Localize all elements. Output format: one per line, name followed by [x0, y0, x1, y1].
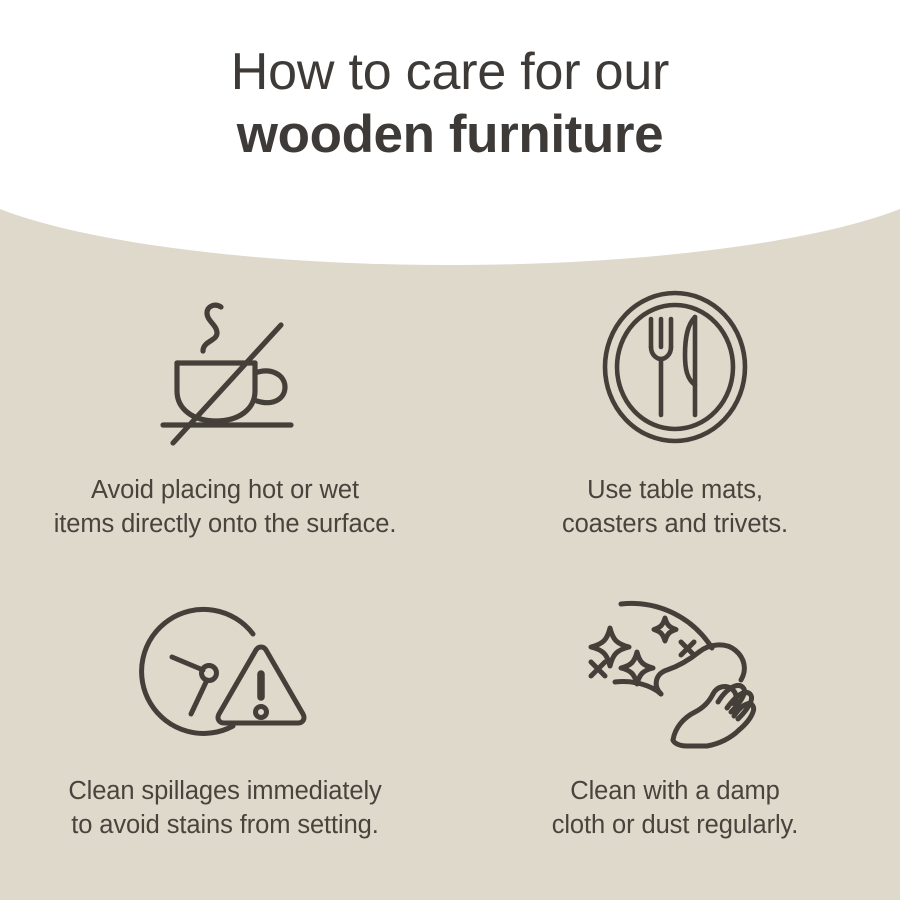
care-tips-grid: Avoid placing hot or wet items directly …	[0, 282, 900, 882]
care-tip-caption: Use table mats, coasters and trivets.	[455, 474, 895, 541]
care-tip-caption: Clean spillages immediately to avoid sta…	[5, 775, 445, 842]
care-tip-caption: Avoid placing hot or wet items directly …	[5, 474, 445, 541]
hand-wiping-cloth-icon	[577, 582, 773, 757]
caption-line-2: coasters and trivets.	[455, 508, 895, 542]
caption-line-1: Clean with a damp	[455, 775, 895, 809]
title-line-light: How to care for our	[0, 44, 900, 100]
caption-line-1: Avoid placing hot or wet	[5, 474, 445, 508]
care-tip-item: Clean spillages immediately to avoid sta…	[0, 582, 450, 882]
title-line-bold: wooden furniture	[0, 106, 900, 163]
plate-cutlery-icon	[599, 282, 751, 452]
care-tip-item: Use table mats, coasters and trivets.	[450, 282, 900, 582]
care-tip-caption: Clean with a damp cloth or dust regularl…	[455, 775, 895, 842]
caption-line-1: Use table mats,	[455, 474, 895, 508]
caption-line-2: to avoid stains from setting.	[5, 809, 445, 843]
caption-line-2: cloth or dust regularly.	[455, 809, 895, 843]
clock-warning-icon	[137, 582, 313, 757]
caption-line-1: Clean spillages immediately	[5, 775, 445, 809]
care-tip-item: Avoid placing hot or wet items directly …	[0, 282, 450, 582]
page-title: How to care for our wooden furniture	[0, 44, 900, 163]
infographic-canvas: How to care for our wooden furniture	[0, 0, 900, 900]
caption-line-2: items directly onto the surface.	[5, 508, 445, 542]
care-tip-item: Clean with a damp cloth or dust regularl…	[450, 582, 900, 882]
no-hot-drink-icon	[145, 282, 305, 452]
